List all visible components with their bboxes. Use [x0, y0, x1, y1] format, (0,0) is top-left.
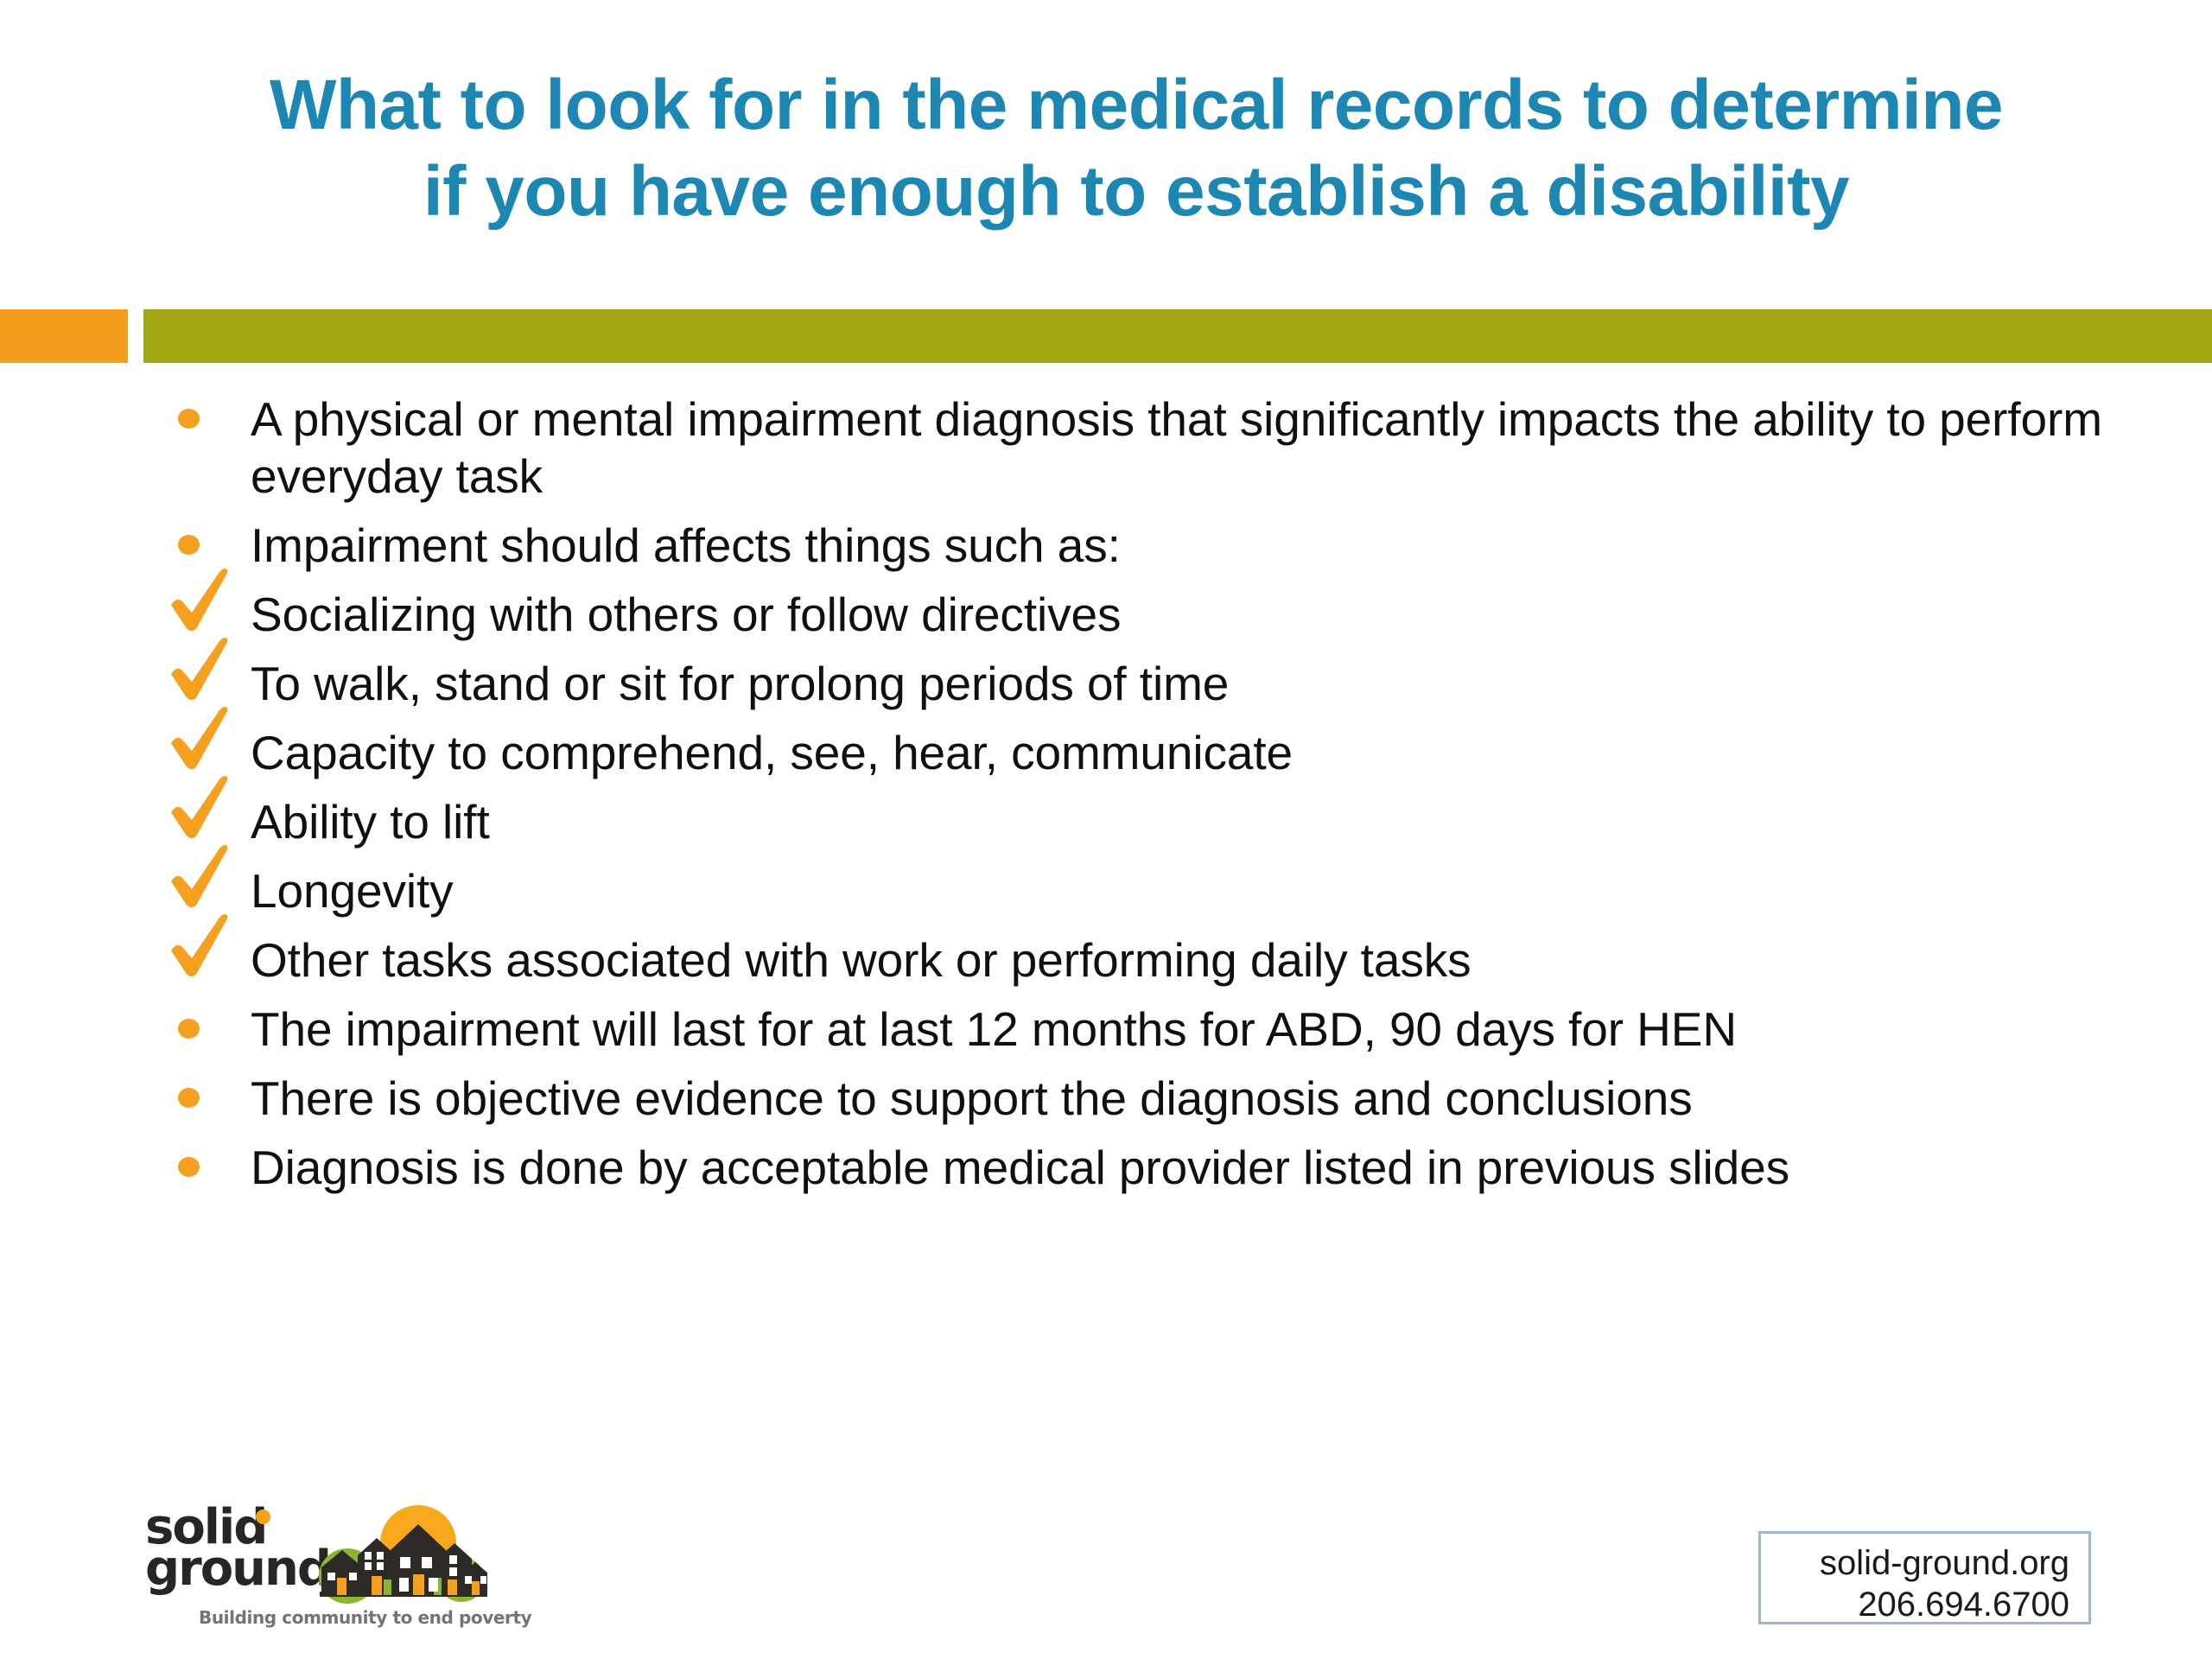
bullet-item: Longevity: [164, 862, 2143, 919]
bullet-text: Capacity to comprehend, see, hear, commu…: [251, 724, 2143, 781]
bullet-dot-icon: [178, 1019, 200, 1039]
contact-phone: 206.694.6700: [1761, 1584, 2069, 1625]
bullet-text: Impairment should affects things such as…: [251, 517, 2143, 574]
bullet-text: To walk, stand or sit for prolong period…: [251, 655, 2143, 712]
bullet-item: There is objective evidence to support t…: [164, 1070, 2143, 1127]
solid-ground-logo: solid ground: [145, 1505, 499, 1643]
page-title: What to look for in the medical records …: [147, 62, 2126, 235]
bullet-text: Other tasks associated with work or perf…: [251, 931, 2143, 988]
bullet-dot-icon: [178, 1088, 200, 1108]
contact-website[interactable]: solid-ground.org: [1761, 1542, 2069, 1584]
logo-word-ground: ground: [145, 1548, 331, 1590]
bullet-item: Ability to lift: [164, 793, 2143, 850]
bullet-text: There is objective evidence to support t…: [251, 1070, 2143, 1127]
bullet-text: Longevity: [251, 862, 2143, 919]
divider-bar-orange: [0, 309, 128, 363]
check-icon: [166, 774, 240, 843]
bullet-item: To walk, stand or sit for prolong period…: [164, 655, 2143, 712]
bullet-item: Impairment should affects things such as…: [164, 517, 2143, 574]
logo-neighborhood-icon: [316, 1505, 489, 1609]
bullet-dot-icon: [178, 535, 200, 555]
logo-wordmark: solid ground: [145, 1507, 331, 1590]
check-icon: [166, 843, 240, 912]
title-line-2: if you have enough to establish a disabi…: [147, 149, 2126, 235]
bullet-item: A physical or mental impairment diagnosi…: [164, 391, 2143, 505]
bullet-list: A physical or mental impairment diagnosi…: [164, 391, 2143, 1208]
bullet-text: A physical or mental impairment diagnosi…: [251, 391, 2143, 505]
bullet-text: Diagnosis is done by acceptable medical …: [251, 1139, 2143, 1196]
bullet-text: Ability to lift: [251, 793, 2143, 850]
bullet-dot-icon: [178, 409, 200, 429]
bullet-item: Other tasks associated with work or perf…: [164, 931, 2143, 988]
check-icon: [166, 912, 240, 982]
bullet-item: Diagnosis is done by acceptable medical …: [164, 1139, 2143, 1196]
title-line-1: What to look for in the medical records …: [147, 62, 2126, 149]
divider-bar-green: [143, 309, 2212, 363]
check-icon: [166, 636, 240, 705]
contact-info-box: solid-ground.org 206.694.6700: [1758, 1531, 2091, 1624]
bullet-item: Socializing with others or follow direct…: [164, 586, 2143, 643]
bullet-item: Capacity to comprehend, see, hear, commu…: [164, 724, 2143, 781]
bullet-text: The impairment will last for at last 12 …: [251, 1001, 2143, 1058]
bullet-item: The impairment will last for at last 12 …: [164, 1001, 2143, 1058]
check-icon: [166, 567, 240, 636]
logo-i-dot-icon: [256, 1510, 270, 1524]
check-icon: [166, 705, 240, 774]
logo-tagline: Building community to end poverty: [199, 1607, 531, 1628]
bullet-dot-icon: [178, 1157, 200, 1177]
bullet-text: Socializing with others or follow direct…: [251, 586, 2143, 643]
